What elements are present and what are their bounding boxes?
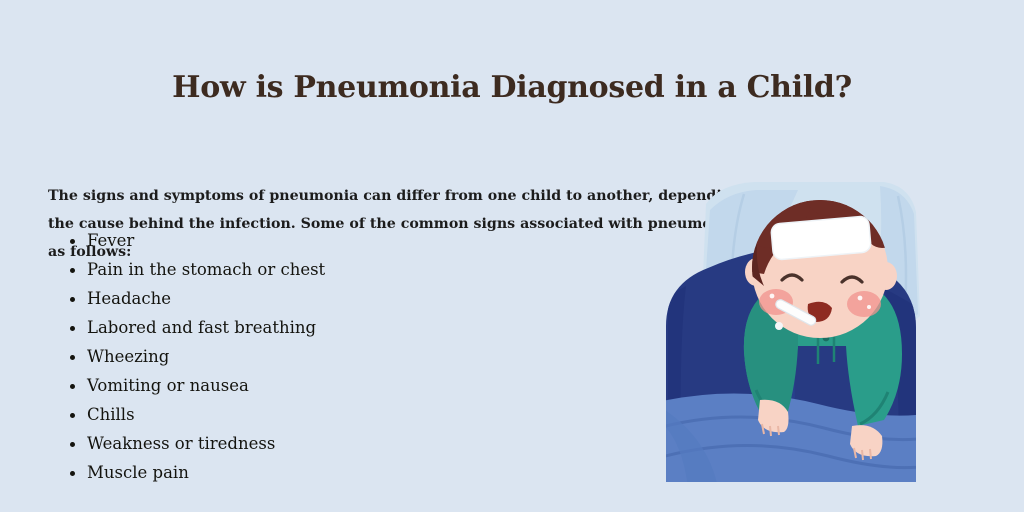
slide-canvas: How is Pneumonia Diagnosed in a Child? T… xyxy=(0,0,1024,512)
list-item: Muscle pain xyxy=(62,458,325,487)
forehead-compress xyxy=(771,216,872,260)
list-item: Pain in the stomach or chest xyxy=(62,255,325,284)
list-item: Chills xyxy=(62,400,325,429)
sick-child-in-bed-illustration xyxy=(648,176,938,488)
symptom-list: Fever Pain in the stomach or chest Heada… xyxy=(62,226,325,487)
list-item: Fever xyxy=(62,226,325,255)
list-item: Labored and fast breathing xyxy=(62,313,325,342)
list-item: Vomiting or nausea xyxy=(62,371,325,400)
list-item: Weakness or tiredness xyxy=(62,429,325,458)
list-item: Headache xyxy=(62,284,325,313)
list-item: Wheezing xyxy=(62,342,325,371)
page-title: How is Pneumonia Diagnosed in a Child? xyxy=(0,70,1024,105)
